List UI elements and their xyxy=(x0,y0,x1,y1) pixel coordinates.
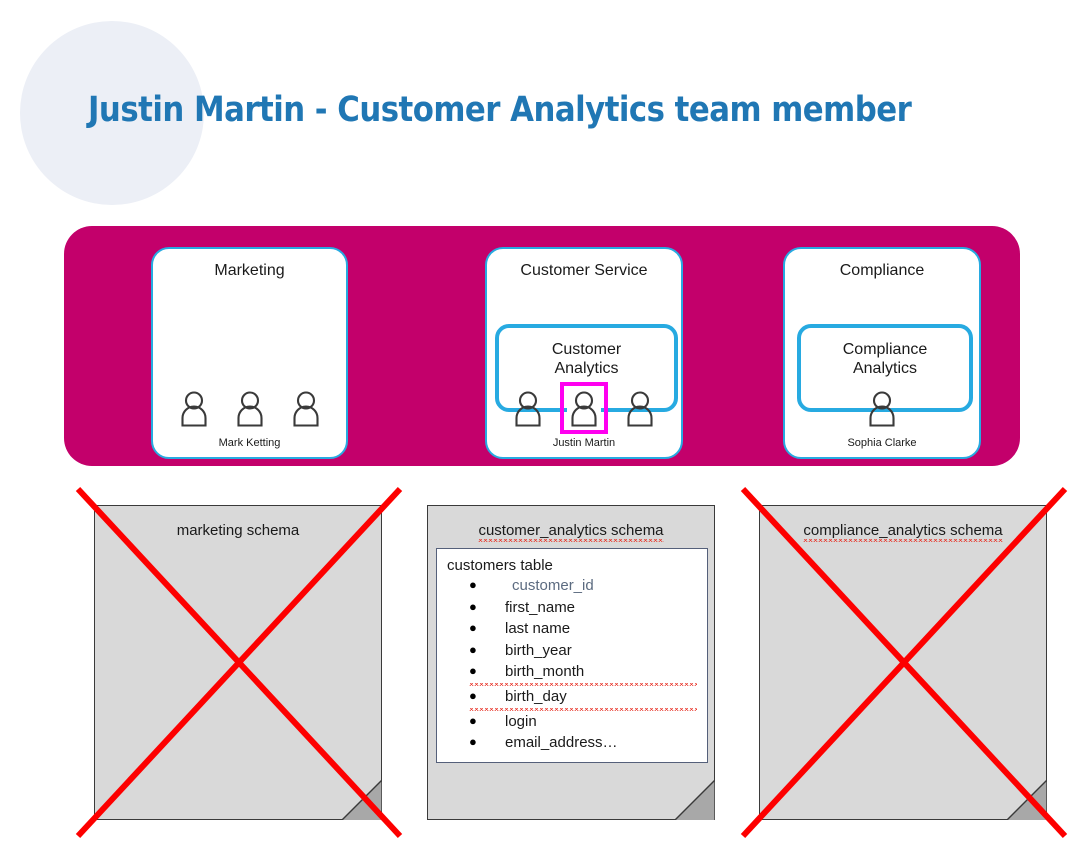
schema-title-text: customer_analytics schema xyxy=(478,522,663,542)
schema-title: customer_analytics schema xyxy=(428,522,714,539)
document-fold-corner-icon xyxy=(342,780,382,820)
schema-document-customer-analytics[interactable]: customer_analytics schema customers tabl… xyxy=(427,505,715,820)
person-icon[interactable] xyxy=(177,389,211,427)
person-name-label: Sophia Clarke xyxy=(785,437,979,449)
person-name-label: Justin Martin xyxy=(487,437,681,449)
people-row xyxy=(487,389,681,427)
department-card-customer-service[interactable]: Customer Service Customer Analytics Just… xyxy=(485,247,683,459)
person-icon[interactable] xyxy=(289,389,323,427)
department-title: Marketing xyxy=(153,262,346,280)
document-fold-corner-icon xyxy=(1007,780,1047,820)
list-item: customer_id xyxy=(469,575,697,597)
people-row xyxy=(153,389,346,427)
person-icon[interactable] xyxy=(865,389,899,427)
department-card-compliance[interactable]: Compliance Compliance Analytics Sophia C… xyxy=(783,247,981,459)
person-icon[interactable] xyxy=(511,389,545,427)
list-item: birth_month xyxy=(469,661,697,686)
analytics-group-label: Compliance Analytics xyxy=(801,340,969,378)
customers-table-label: customers table xyxy=(447,557,697,574)
schema-title: compliance_analytics schema xyxy=(760,522,1046,539)
people-row xyxy=(785,389,979,427)
schema-title: marketing schema xyxy=(95,522,381,539)
document-fold-corner-icon xyxy=(675,780,715,820)
list-item: first_name xyxy=(469,597,697,619)
person-icon-highlighted-justin-martin[interactable] xyxy=(567,389,601,427)
department-card-marketing[interactable]: Marketing Mark Ketting xyxy=(151,247,348,459)
column-list: customer_id first_name last name birth_y… xyxy=(447,575,697,754)
list-item: last name xyxy=(469,618,697,640)
list-item: birth_year xyxy=(469,640,697,662)
list-item: email_address… xyxy=(469,732,697,754)
customers-table-box: customers table customer_id first_name l… xyxy=(436,548,708,763)
list-item: login xyxy=(469,711,697,733)
department-title: Compliance xyxy=(785,262,979,280)
person-icon[interactable] xyxy=(233,389,267,427)
schema-document-compliance-analytics[interactable]: compliance_analytics schema xyxy=(759,505,1047,820)
person-name-label: Mark Ketting xyxy=(153,437,346,449)
department-title: Customer Service xyxy=(487,262,681,280)
schema-title-text: compliance_analytics schema xyxy=(803,522,1002,542)
list-item: birth_day xyxy=(469,686,697,711)
analytics-group-label: Customer Analytics xyxy=(499,340,674,378)
page-title: Justin Martin - Customer Analytics team … xyxy=(88,90,911,130)
person-icon[interactable] xyxy=(623,389,657,427)
schema-document-marketing[interactable]: marketing schema xyxy=(94,505,382,820)
